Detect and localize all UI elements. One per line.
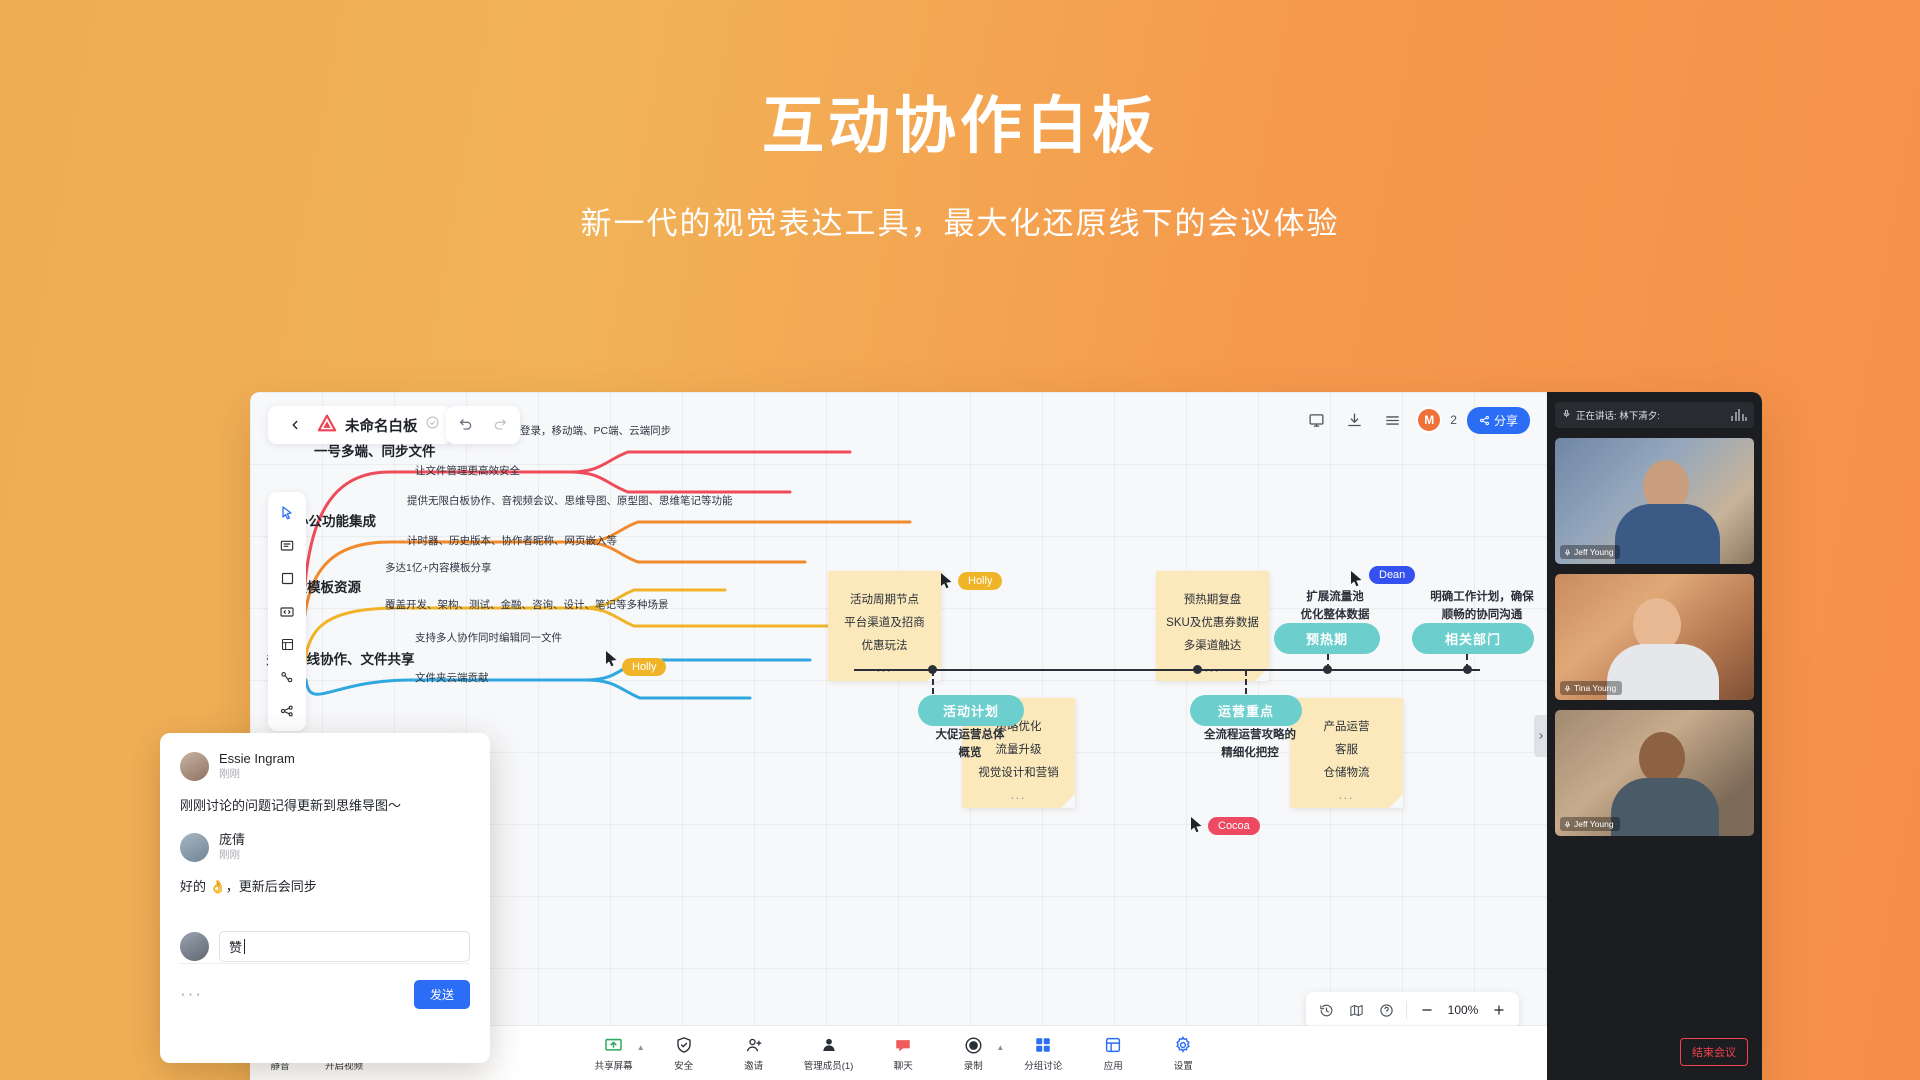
video-panel: 正在讲话: 林下清夕: Jeff Young Tina Young [1547,392,1762,1080]
chat-message-text: 好的 👌，更新后会同步 [180,876,470,895]
note-line: 视觉设计和营销 [972,762,1065,785]
timeline-node [1193,665,1202,674]
chevron-up-icon[interactable]: ▲ [637,1043,645,1052]
remote-cursor-pointer [605,650,618,667]
sticky-note-icon[interactable] [272,530,302,561]
participant-body [1607,644,1719,700]
chevron-left-icon[interactable] [281,411,309,439]
timeline-link [1245,670,1247,694]
hero-section: 互动协作白板 新一代的视觉表达工具，最大化还原线下的会议体验 [0,0,1920,243]
chat-timestamp: 刚刚 [219,767,295,782]
chat-sender-name: 庞倩 [219,832,245,848]
page-subtitle: 新一代的视觉表达工具，最大化还原线下的会议体验 [0,198,1920,243]
participant-name-badge: Jeff Young [1560,817,1620,831]
chat-input-value: 赞 [229,937,242,956]
chat-composer: 赞 [180,931,470,962]
note-caption: 大促运营总体 概览 [905,726,1035,763]
toolbar-label: 聊天 [894,1058,913,1072]
share-screen-icon [603,1035,624,1056]
share-button[interactable]: 分享 [1467,407,1530,434]
timeline-link [932,670,934,694]
phase-pill[interactable]: 运营重点 [1190,695,1302,726]
video-tile[interactable]: Jeff Young [1555,710,1754,836]
note-caption: 扩展流量池 优化整体数据 [1270,588,1400,625]
toolbar-item-breakout-rooms[interactable]: 分组讨论 [1023,1035,1063,1072]
header-actions: M 2 分享 [1302,406,1530,434]
tool-rail [268,492,306,731]
toolbar-label: 安全 [674,1058,693,1072]
note-line: 平台渠道及招商 [838,612,931,635]
mindmap-branch-child[interactable]: 提供无限白板协作、音视频会议、思维导图、原型图、思维笔记等功能 [407,493,733,508]
mindmap-branch-child[interactable]: 多达1亿+内容模板分享 [385,560,491,575]
page-title: 互动协作白板 [0,96,1920,158]
settings-gear-icon [1173,1035,1194,1056]
board-title-toolbar: 未命名白板 [268,406,452,444]
toolbar-label: 共享屏幕 [595,1058,633,1072]
zoom-in-button[interactable] [1485,996,1513,1024]
participant-name: Jeff Young [1574,547,1614,557]
participant-face [1639,732,1685,784]
mindmap-branch-child[interactable]: 计时器、历史版本、协作者昵称、网页嵌入等 [407,533,617,548]
undo-redo-toolbar [446,406,520,444]
board-title[interactable]: 未命名白板 [345,415,418,436]
divider [1406,1001,1407,1019]
code-frame-icon[interactable] [272,596,302,627]
mindmap-branch-child[interactable]: 支持多人协作同时编辑同一文件 [415,630,562,645]
note-caption: 全流程运营攻略的 精细化把控 [1175,726,1325,763]
divider [180,963,470,964]
toolbar-item-share-screen[interactable]: 共享屏幕 ▲ [594,1035,634,1072]
timeline-axis [854,669,1480,671]
participant-name-badge: Tina Young [1560,681,1622,695]
cursor-select-icon[interactable] [272,497,302,528]
toolbar-label: 邀请 [744,1058,763,1072]
timeline-link [1466,654,1468,670]
download-icon[interactable] [1340,406,1368,434]
zoom-out-button[interactable] [1413,996,1441,1024]
caption-line: 精细化把控 [1175,744,1325,762]
phase-pill[interactable]: 活动计划 [918,695,1024,726]
caption-line: 明确工作计划，确保 [1407,588,1557,606]
redo-icon[interactable] [486,411,514,439]
note-ellipsis: ... [1300,785,1393,808]
mindmap-icon[interactable] [272,695,302,726]
participant-name-badge: Jeff Young [1560,545,1620,559]
minimap-icon[interactable] [1342,996,1370,1024]
caption-line: 概览 [905,744,1035,762]
note-line: 优惠玩法 [838,635,931,658]
breakout-rooms-icon [1033,1035,1054,1056]
end-meeting-button[interactable]: 结束会议 [1680,1038,1748,1066]
manage-members-icon [818,1035,839,1056]
participant-name: Tina Young [1574,683,1616,693]
remote-cursor-dean [1350,570,1363,587]
mindmap-branch-child[interactable]: 文件夹云端贡献 [415,670,489,685]
app-logo-icon [317,414,337,437]
send-button[interactable]: 发送 [414,980,470,1009]
shape-square-icon[interactable] [272,563,302,594]
member-count: 2 [1450,413,1457,427]
note-line: SKU及优惠券数据 [1166,612,1259,635]
sticky-note[interactable]: 预热期复盘 SKU及优惠券数据 多渠道触达 ... [1156,571,1269,681]
phase-pill[interactable]: 相关部门 [1412,623,1534,654]
note-line: 预热期复盘 [1166,589,1259,612]
chat-message-header: 庞倩 刚刚 [180,832,470,863]
toolbar-label: 设置 [1174,1058,1193,1072]
avatar [180,932,209,961]
video-tile[interactable]: Jeff Young [1555,438,1754,564]
avatar [180,752,209,781]
toolbar-label: 录制 [964,1058,983,1072]
chat-input[interactable]: 赞 [219,931,470,962]
share-button-label: 分享 [1494,412,1518,429]
cursor-tag: Cocoa [1208,817,1260,835]
zoom-toolbar: 100% [1306,992,1519,1028]
audio-level-icon [1731,409,1747,421]
present-screen-icon[interactable] [1302,406,1330,434]
security-shield-icon [673,1035,694,1056]
chat-timestamp: 刚刚 [219,848,245,863]
avatar[interactable]: M [1416,407,1442,433]
participant-body [1611,778,1719,836]
cursor-tag: Dean [1369,566,1415,584]
note-line: 活动周期节点 [838,589,931,612]
invite-person-icon [743,1035,764,1056]
chat-footer: ··· 发送 [180,980,470,1009]
note-caption: 明确工作计划，确保 顺畅的协同沟通 [1407,588,1557,625]
note-ellipsis: ... [972,785,1065,808]
caption-line: 扩展流量池 [1270,588,1400,606]
undo-icon[interactable] [452,411,480,439]
avatar [180,833,209,862]
active-speaker-label: 正在讲话: 林下清夕: [1576,408,1660,422]
toolbar-item-invite[interactable]: 邀请 [734,1035,774,1072]
help-icon[interactable] [1372,996,1400,1024]
note-line: 仓储物流 [1300,762,1393,785]
chat-more-button[interactable]: ··· [180,984,203,1004]
text-caret [244,939,245,954]
zoom-level[interactable]: 100% [1443,1003,1483,1017]
apps-icon [1103,1035,1124,1056]
saved-check-icon [426,416,439,434]
video-tile[interactable]: Tina Young [1555,574,1754,700]
mindmap-branch-child[interactable]: 覆盖开发、架构、测试、金融、咨询、设计、笔记等多种场景 [385,597,669,612]
connector-icon[interactable] [272,662,302,693]
remote-cursor-cocoa [1190,816,1203,833]
remote-cursor-holly [940,572,953,589]
toolbar-item-record[interactable]: 录制 ▲ [953,1035,993,1072]
menu-icon[interactable] [1378,406,1406,434]
caption-line: 全流程运营攻略的 [1175,726,1325,744]
phase-pill[interactable]: 预热期 [1274,623,1380,654]
chat-popup: Essie Ingram 刚刚 刚刚讨论的问题记得更新到思维导图～ 庞倩 刚刚 … [160,733,490,1063]
note-line: 多渠道触达 [1166,635,1259,658]
microphone-small-icon [1562,406,1571,424]
toolbar-label: 管理成员(1) [804,1058,854,1072]
chevron-up-icon[interactable]: ▲ [996,1043,1004,1052]
toolbar-label: 分组讨论 [1024,1058,1062,1072]
toolbar-item-chat[interactable]: 聊天 [883,1035,923,1072]
active-speaker-bar: 正在讲话: 林下清夕: [1555,402,1754,428]
toolbar-item-manage-members[interactable]: 管理成员(1) [804,1035,854,1072]
toolbar-item-security[interactable]: 安全 [664,1035,704,1072]
toolbar-item-settings[interactable]: 设置 [1163,1035,1203,1072]
history-icon[interactable] [1312,996,1340,1024]
chat-message-header: Essie Ingram 刚刚 [180,751,470,782]
frame-icon[interactable] [272,629,302,660]
chat-message-text: 刚刚讨论的问题记得更新到思维导图～ [180,795,470,814]
timeline-link [1327,654,1329,670]
mindmap-branch-child[interactable]: 让文件管理更高效安全 [415,463,520,478]
participant-name: Jeff Young [1574,819,1614,829]
sticky-note[interactable]: 活动周期节点 平台渠道及招商 优惠玩法 ... [828,571,941,681]
participant-body [1615,504,1720,564]
chat-sender-name: Essie Ingram [219,751,295,767]
caption-line: 大促运营总体 [905,726,1035,744]
toolbar-item-apps[interactable]: 应用 [1093,1035,1133,1072]
record-icon [963,1035,984,1056]
cursor-tag: Holly [958,572,1002,590]
collapse-video-panel-handle[interactable] [1534,715,1547,757]
cursor-tag: Holly [622,658,666,676]
toolbar-label: 应用 [1104,1058,1123,1072]
chat-bubble-icon [893,1035,914,1056]
